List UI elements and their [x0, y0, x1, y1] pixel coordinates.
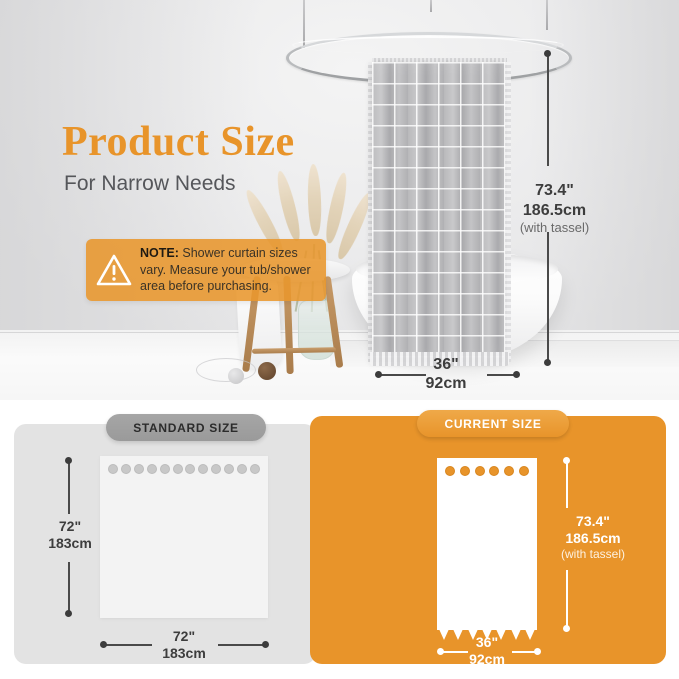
- current-height-dim-endpoint-bottom: [563, 625, 570, 632]
- grommet-icon: [519, 466, 529, 476]
- standard-height-dim-endpoint-top: [65, 457, 72, 464]
- note-label: NOTE:: [140, 246, 179, 260]
- warning-triangle-icon: [94, 251, 134, 289]
- photo-height-dim-endpoint-top: [544, 50, 551, 57]
- photo-height-qualifier: (with tassel): [492, 220, 617, 236]
- floor-decor-ring: [196, 358, 256, 382]
- current-curtain-illustration: [437, 458, 537, 630]
- photo-width-dim-endpoint-right: [513, 371, 520, 378]
- photo-height-dim-line-lower: [547, 232, 549, 362]
- current-curtain-grommets: [445, 466, 529, 476]
- note-text: NOTE: Shower curtain sizes vary. Measure…: [140, 245, 320, 295]
- current-height-qualifier: (with tassel): [534, 547, 652, 561]
- grommet-icon: [160, 464, 170, 474]
- grommet-icon: [147, 464, 157, 474]
- grommet-icon: [173, 464, 183, 474]
- grommet-icon: [504, 466, 514, 476]
- floor-wall-line: [0, 332, 679, 333]
- note-callout: NOTE: Shower curtain sizes vary. Measure…: [86, 239, 326, 301]
- current-height-cm: 186.5cm: [534, 530, 652, 547]
- page-subtitle: For Narrow Needs: [64, 172, 236, 196]
- standard-width-inches: 72": [140, 628, 228, 645]
- current-width-dim-label: 36" 92cm: [443, 634, 531, 668]
- standard-curtain-grommets: [108, 464, 260, 474]
- photo-height-dim-label: 73.4" 186.5cm (with tassel): [492, 181, 617, 236]
- current-width-dim-endpoint-right: [534, 648, 541, 655]
- product-size-infographic: 73.4" 186.5cm (with tassel) 36" 92cm Pro…: [0, 0, 679, 679]
- grommet-icon: [224, 464, 234, 474]
- grommet-icon: [237, 464, 247, 474]
- photo-height-dim-line-upper: [547, 56, 549, 166]
- grommet-icon: [211, 464, 221, 474]
- grommet-icon: [198, 464, 208, 474]
- standard-width-dim-label: 72" 183cm: [140, 628, 228, 662]
- standard-height-dim-line-lower: [68, 562, 70, 614]
- photo-height-cm: 186.5cm: [492, 201, 617, 221]
- standard-width-cm: 183cm: [140, 645, 228, 662]
- ceiling-drop-rod-center: [430, 0, 432, 12]
- standard-width-dim-endpoint-left: [100, 641, 107, 648]
- current-height-dim-label: 73.4" 186.5cm (with tassel): [534, 513, 652, 561]
- ceiling-drop-rod-right: [546, 0, 548, 30]
- photo-height-inches: 73.4": [492, 181, 617, 201]
- pampas-grass: [307, 164, 323, 236]
- standard-height-cm: 183cm: [26, 535, 114, 552]
- page-title: Product Size: [62, 118, 295, 166]
- current-height-inches: 73.4": [534, 513, 652, 530]
- current-height-dim-line-lower: [566, 570, 568, 628]
- grommet-icon: [460, 466, 470, 476]
- standard-curtain-illustration: [100, 456, 268, 618]
- photo-height-dim-endpoint-bottom: [544, 359, 551, 366]
- current-height-dim-endpoint-top: [563, 457, 570, 464]
- grommet-icon: [121, 464, 131, 474]
- photo-width-cm: 92cm: [398, 375, 494, 394]
- grommet-icon: [489, 466, 499, 476]
- photo-width-inches: 36": [398, 356, 494, 375]
- current-size-badge: CURRENT SIZE: [417, 410, 569, 437]
- standard-height-dim-line-upper: [68, 462, 70, 514]
- grommet-icon: [475, 466, 485, 476]
- grommet-icon: [250, 464, 260, 474]
- floor-decor-pinecone: [258, 362, 276, 380]
- current-width-inches: 36": [443, 634, 531, 651]
- standard-height-inches: 72": [26, 518, 114, 535]
- pampas-grass: [273, 169, 303, 242]
- floor-decor-ball: [228, 368, 244, 384]
- standard-height-dim-endpoint-bottom: [65, 610, 72, 617]
- curtain-rod-highlight: [292, 36, 564, 54]
- grommet-icon: [445, 466, 455, 476]
- current-height-dim-line-upper: [566, 462, 568, 508]
- current-width-cm: 92cm: [443, 651, 531, 668]
- photo-width-dim-label: 36" 92cm: [398, 356, 494, 394]
- standard-height-dim-label: 72" 183cm: [26, 518, 114, 552]
- standard-width-dim-endpoint-right: [262, 641, 269, 648]
- grommet-icon: [108, 464, 118, 474]
- grommet-icon: [185, 464, 195, 474]
- grommet-icon: [134, 464, 144, 474]
- standard-size-badge: STANDARD SIZE: [106, 414, 266, 441]
- shower-curtain-photo: [372, 62, 507, 362]
- photo-width-dim-endpoint-left: [375, 371, 382, 378]
